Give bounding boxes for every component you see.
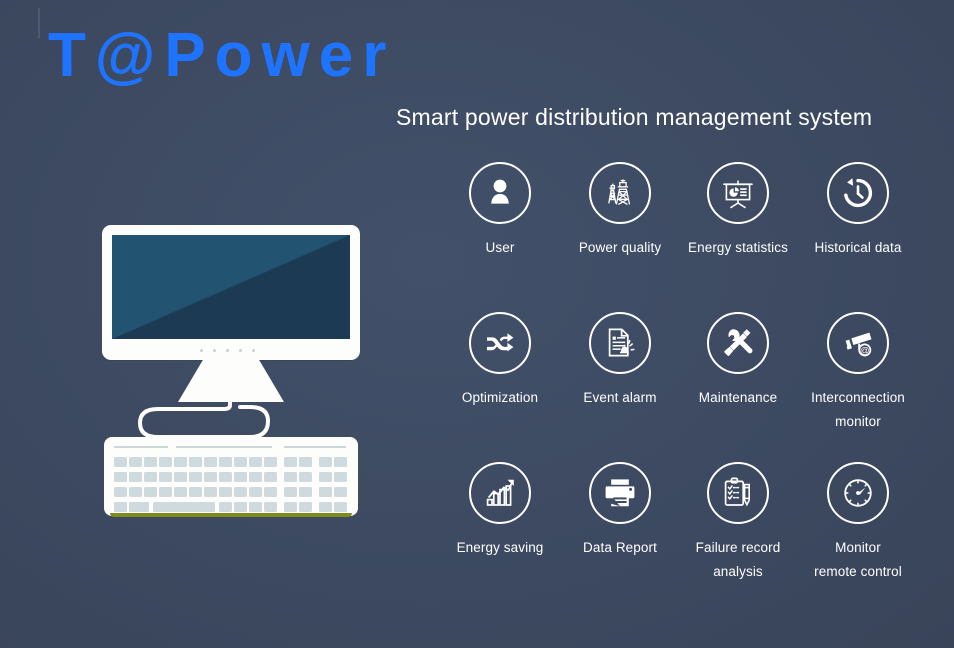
keyboard-key	[114, 502, 127, 512]
module-tile-energy-saving[interactable]: Energy saving	[438, 462, 562, 560]
keyboard-key	[284, 502, 297, 512]
monitor-stand	[178, 359, 284, 402]
keyboard-key	[129, 472, 142, 482]
keyboard-key	[204, 472, 217, 482]
keyboard-key	[299, 457, 312, 467]
module-label: Power quality	[558, 236, 682, 260]
computer-illustration	[90, 215, 380, 535]
keyboard-key	[334, 457, 347, 467]
module-tile-historical-data[interactable]: Historical data	[796, 162, 920, 260]
keyboard-key	[264, 487, 277, 497]
keyboard-key	[174, 472, 187, 482]
bar-chart-arrow-icon	[469, 462, 531, 524]
keyboard-key	[334, 487, 347, 497]
keyboard-key	[114, 472, 127, 482]
keyboard-key	[284, 487, 297, 497]
module-tile-energy-statistics[interactable]: Energy statistics	[676, 162, 800, 260]
keyboard-key	[174, 457, 187, 467]
keyboard-key	[299, 502, 312, 512]
keyboard-bottom-edge	[110, 513, 352, 517]
keyboard-key	[234, 502, 247, 512]
keyboard-top-line	[284, 446, 346, 448]
module-label: Monitorremote control	[796, 536, 920, 583]
keyboard-key	[159, 472, 172, 482]
document-alarm-icon	[589, 312, 651, 374]
module-label: Failure recordanalysis	[676, 536, 800, 583]
keyboard-key	[334, 472, 347, 482]
keyboard-key	[189, 472, 202, 482]
keyboard-key	[284, 472, 297, 482]
module-label: Energy statistics	[676, 236, 800, 260]
keyboard-key	[319, 487, 332, 497]
module-tile-failure-record-analysis[interactable]: Failure recordanalysis	[676, 462, 800, 583]
keyboard-key	[144, 457, 157, 467]
keyboard-key	[129, 487, 142, 497]
svg-text:@: @	[860, 345, 870, 356]
desktop-keyboard	[104, 437, 358, 516]
keyboard-key	[249, 457, 262, 467]
gauge-icon	[827, 462, 889, 524]
brand-logo: T@Power	[48, 22, 395, 90]
keyboard-key	[144, 472, 157, 482]
cctv-camera-at-icon: @	[827, 312, 889, 374]
module-tile-monitor-remote-control[interactable]: Monitorremote control	[796, 462, 920, 583]
keyboard-key	[159, 487, 172, 497]
module-tile-event-alarm[interactable]: Event alarm	[558, 312, 682, 410]
wrench-screwdriver-icon	[707, 312, 769, 374]
keyboard-key	[159, 457, 172, 467]
text-caret-artifact	[38, 8, 40, 38]
keyboard-key	[114, 457, 127, 467]
module-tile-interconnection-monitor[interactable]: @ Interconnectionmonitor	[796, 312, 920, 433]
keyboard-key	[204, 457, 217, 467]
keyboard-key	[264, 457, 277, 467]
module-label: Data Report	[558, 536, 682, 560]
module-label: Optimization	[438, 386, 562, 410]
module-label: Interconnectionmonitor	[796, 386, 920, 433]
monitor-chin-dot	[252, 349, 255, 352]
monitor-chin-dot	[213, 349, 216, 352]
desktop-monitor	[102, 225, 360, 360]
clipboard-checklist-icon	[707, 462, 769, 524]
keyboard-key	[319, 457, 332, 467]
keyboard-key	[129, 457, 142, 467]
keyboard-key	[299, 487, 312, 497]
keyboard-key	[334, 502, 347, 512]
keyboard-key	[234, 457, 247, 467]
keyboard-key	[284, 457, 297, 467]
module-tile-data-report[interactable]: Data Report	[558, 462, 682, 560]
power-tower-icon	[589, 162, 651, 224]
clock-rewind-icon	[827, 162, 889, 224]
brand-subtitle: Smart power distribution management syst…	[396, 104, 872, 131]
module-label: Energy saving	[438, 536, 562, 560]
keyboard-key	[129, 502, 149, 512]
keyboard-key	[264, 472, 277, 482]
keyboard-key	[249, 472, 262, 482]
keyboard-top-line	[114, 446, 168, 448]
monitor-screen	[112, 235, 350, 339]
monitor-chin-dot	[200, 349, 203, 352]
keyboard-key	[219, 487, 232, 497]
keyboard-key	[234, 487, 247, 497]
module-icon-grid: User Power quality	[438, 162, 938, 632]
keyboard-key	[219, 502, 232, 512]
module-tile-power-quality[interactable]: Power quality	[558, 162, 682, 260]
keyboard-key	[219, 457, 232, 467]
monitor-chin-dot	[226, 349, 229, 352]
module-label: Maintenance	[676, 386, 800, 410]
keyboard-key	[204, 487, 217, 497]
keyboard-key	[249, 502, 262, 512]
module-tile-user[interactable]: User	[438, 162, 562, 260]
monitor-chin-dot	[239, 349, 242, 352]
keyboard-key	[189, 457, 202, 467]
shuffle-arrows-icon	[469, 312, 531, 374]
keyboard-top-line	[176, 446, 272, 448]
keyboard-key	[153, 502, 215, 512]
keyboard-key	[174, 487, 187, 497]
keyboard-key	[264, 502, 277, 512]
keyboard-key	[144, 487, 157, 497]
keyboard-key	[234, 472, 247, 482]
module-tile-optimization[interactable]: Optimization	[438, 312, 562, 410]
user-icon	[469, 162, 531, 224]
poster-root: T@Power Smart power distribution managem…	[0, 0, 954, 648]
keyboard-key	[299, 472, 312, 482]
keyboard-key	[189, 487, 202, 497]
printer-icon	[589, 462, 651, 524]
module-label: Historical data	[796, 236, 920, 260]
keyboard-key	[249, 487, 262, 497]
keyboard-key	[319, 502, 332, 512]
keyboard-key	[319, 472, 332, 482]
module-label: User	[438, 236, 562, 260]
module-label: Event alarm	[558, 386, 682, 410]
presentation-chart-icon	[707, 162, 769, 224]
module-tile-maintenance[interactable]: Maintenance	[676, 312, 800, 410]
keyboard-key	[219, 472, 232, 482]
keyboard-key	[114, 487, 127, 497]
